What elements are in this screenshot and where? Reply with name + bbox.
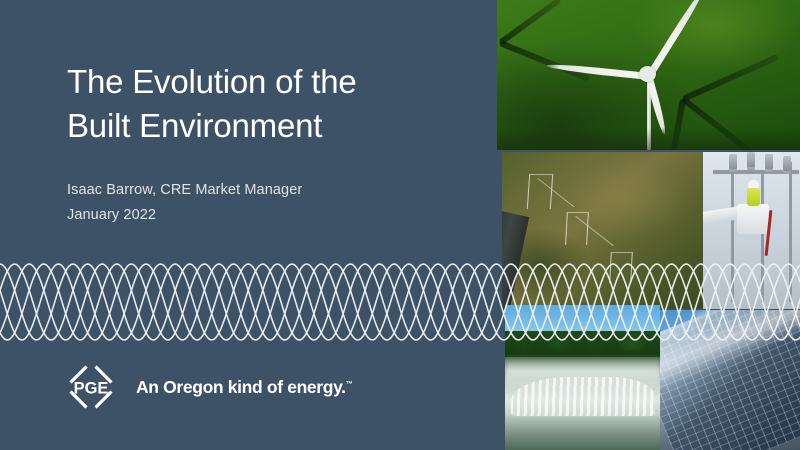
wind-turbine-photo [497,0,800,150]
pge-logo-text: PGE [74,380,109,398]
power-line [537,178,574,207]
pge-diamond-logo-icon: PGE [60,356,122,418]
bucket [737,204,769,234]
pge-logo-lockup: PGE An Oregon kind of energy.™ [60,356,353,418]
sine-wave-curve [0,264,800,340]
turbine-shadow [499,40,590,82]
turbine-blade [645,0,707,80]
transmission-tower [609,252,633,283]
river-mist [505,355,660,389]
turbine-blade [645,74,668,135]
turbine-shadow [682,54,779,102]
red-cable [765,210,773,256]
hillside-road [502,210,529,309]
clouds [660,310,800,372]
trademark-symbol: ™ [346,381,353,388]
solar-panels-photo [660,310,800,450]
presenter-name-and-role: Isaac Barrow, CRE Market Manager [67,178,467,203]
treeline [505,331,660,357]
substation-post [761,170,764,302]
page-title: The Evolution of the Built Environment [67,60,467,147]
field-edge [497,128,800,150]
worker-helmet [748,180,759,188]
turbine-shadow [498,0,561,45]
insulator [765,154,773,172]
transmission-tower [527,174,553,209]
title-slide: The Evolution of the Built Environment I… [0,0,800,450]
transmission-towers-photo [502,152,703,309]
waterfall-hydro-photo [505,305,660,450]
presentation-date: January 2022 [67,203,467,228]
title-line-2: Built Environment [67,104,467,148]
transmission-tower [565,212,589,245]
sine-wave-curve [0,264,800,340]
panel-glare [660,310,800,393]
tagline-text: An Oregon kind of energy. [136,377,346,397]
sine-wave-curve [0,264,800,340]
turbine-shadow [681,97,752,150]
turbine-hub [639,66,656,82]
turbine-blade [546,62,651,80]
presenter-block: Isaac Barrow, CRE Market Manager January… [67,178,467,228]
substation-beam [713,170,799,174]
sine-wave-curve [0,264,800,340]
power-line [575,216,613,246]
substation-post [731,170,734,302]
lineworker-photo [703,152,800,309]
turbine-shadow [670,98,686,150]
pge-tagline: An Oregon kind of energy.™ [136,377,353,398]
turbine-tower [647,76,651,150]
worker-vest [747,188,760,206]
waterfall [511,377,655,417]
solar-panel-array [660,310,800,450]
sine-wave-curve [0,264,800,340]
substation-post [789,162,792,302]
title-line-1: The Evolution of the [67,60,467,104]
insulator [729,154,737,172]
bucket-truck-boom [703,203,764,227]
insulator [747,152,755,170]
insulator [783,156,791,174]
sine-wave-pattern-icon [0,258,800,346]
river-pool [505,416,660,450]
